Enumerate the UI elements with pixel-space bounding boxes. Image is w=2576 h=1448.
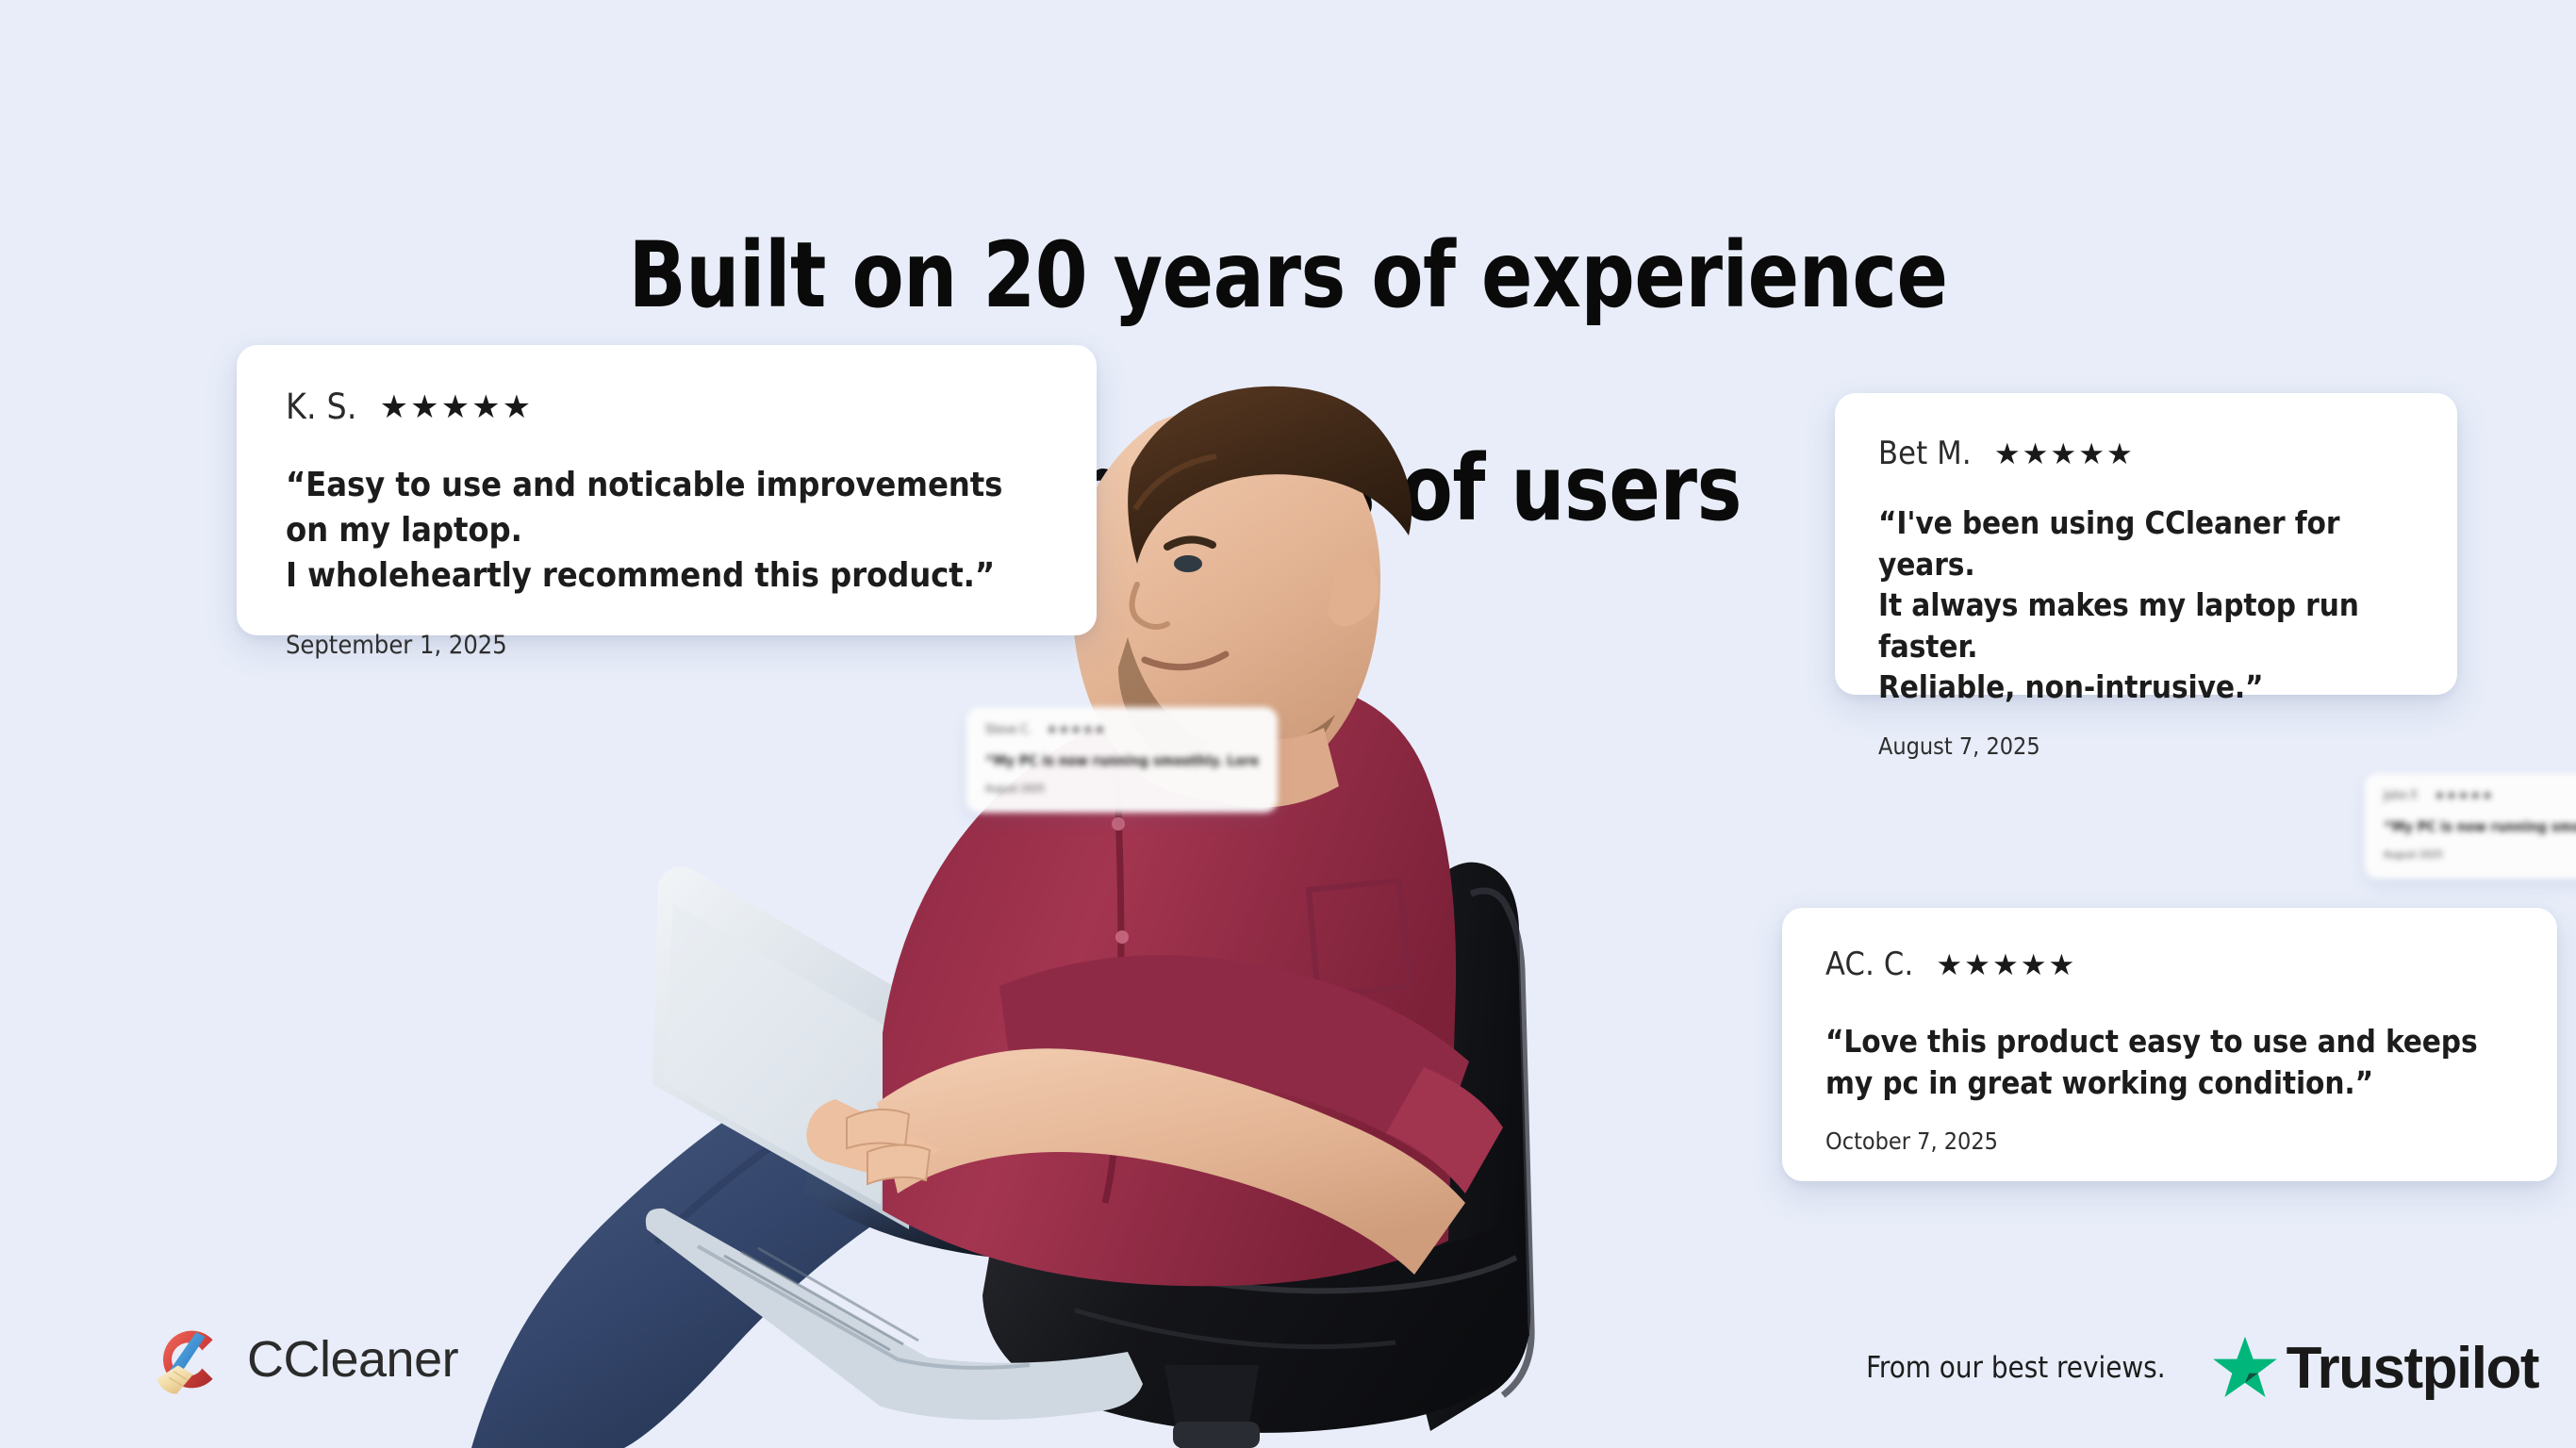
ccleaner-icon: [151, 1322, 226, 1397]
background-review-text: “My PC is now running smoothly. Lorem i: [985, 752, 1259, 769]
marketing-hero: Built on 20 years of experience with mil…: [0, 0, 2576, 1448]
review-text: “Easy to use and noticable improvements …: [286, 463, 1048, 599]
trustpilot-star-icon: [2211, 1334, 2279, 1402]
trustpilot-note: From our best reviews.: [1866, 1351, 2165, 1385]
ccleaner-logo: CCleaner: [151, 1322, 458, 1397]
star-rating-icon: ★★★★★: [380, 391, 533, 423]
review-text: “I've been using CCleaner for years. It …: [1878, 502, 2414, 708]
review-date: September 1, 2025: [286, 631, 1048, 660]
jeans: [471, 1015, 1331, 1448]
background-review-text: “My PC is now running smoo: [2384, 818, 2576, 835]
review-header: Bet M. ★★★★★: [1878, 435, 2414, 472]
background-review-header: John F. ★★★★★: [2384, 788, 2576, 803]
background-reviewer-name: John F.: [2384, 789, 2419, 803]
background-review-date: August 2025: [985, 782, 1259, 795]
background-review-header: Steve C. ★★★★★: [985, 722, 1259, 737]
trustpilot-footer: From our best reviews. Trustpilot: [1866, 1334, 2538, 1402]
background-review-card: Steve C. ★★★★★ “My PC is now running smo…: [966, 707, 1278, 813]
trustpilot-wordmark: Trustpilot: [2287, 1335, 2538, 1402]
reviewer-name: Bet M.: [1878, 435, 1972, 472]
star-rating-icon: ★★★★★: [1936, 950, 2076, 979]
review-header: AC. C. ★★★★★: [1825, 946, 2514, 983]
star-rating-icon: ★★★★★: [1047, 722, 1106, 737]
background-review-date: August 2025: [2384, 848, 2576, 861]
background-reviewer-name: Steve C.: [985, 723, 1032, 737]
review-date: October 7, 2025: [1825, 1127, 2514, 1155]
review-card-acc: AC. C. ★★★★★ “Love this product easy to …: [1782, 908, 2557, 1181]
laptop: [646, 866, 1143, 1420]
review-text: “Love this product easy to use and keeps…: [1825, 1021, 2514, 1103]
page-title-line-1: Built on 20 years of experience: [91, 222, 2486, 329]
review-date: August 7, 2025: [1878, 732, 2414, 760]
review-card-ks: K. S. ★★★★★ “Easy to use and noticable i…: [237, 345, 1097, 635]
background-review-card: John F. ★★★★★ “My PC is now running smoo…: [2365, 773, 2576, 879]
reviewer-name: K. S.: [286, 387, 357, 427]
star-rating-icon: ★★★★★: [2435, 788, 2494, 803]
review-header: K. S. ★★★★★: [286, 387, 1048, 427]
trustpilot-logo: Trustpilot: [2211, 1334, 2538, 1402]
ccleaner-wordmark: CCleaner: [247, 1330, 458, 1389]
arms: [806, 1048, 1465, 1275]
star-rating-icon: ★★★★★: [1994, 439, 2135, 469]
reviewer-name: AC. C.: [1825, 946, 1913, 983]
review-card-bet: Bet M. ★★★★★ “I've been using CCleaner f…: [1835, 393, 2457, 695]
office-chair: [983, 863, 1531, 1448]
